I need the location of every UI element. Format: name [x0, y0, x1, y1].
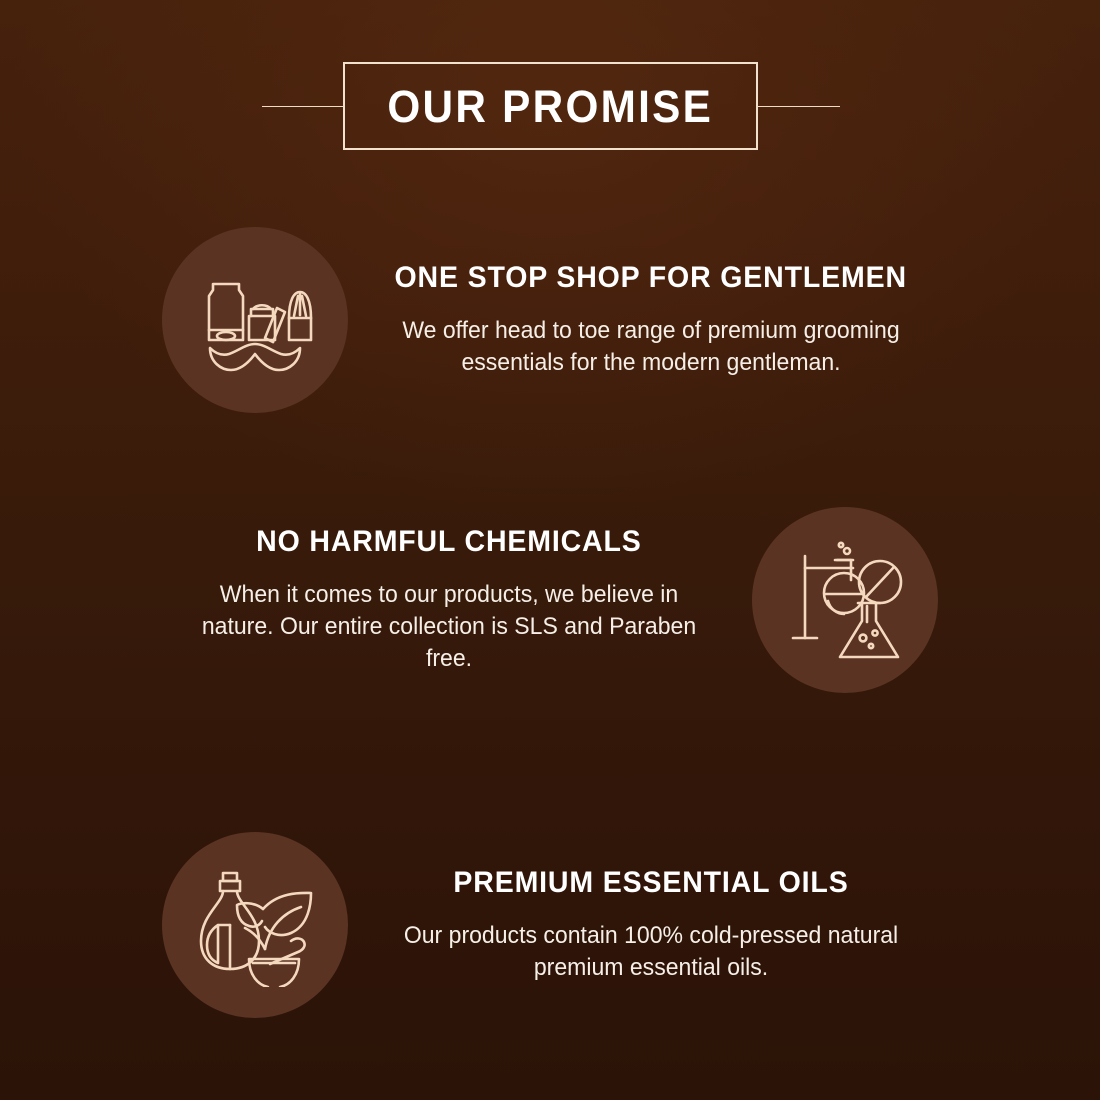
feature-description: When it comes to our products, we believ…: [199, 579, 698, 675]
feature-text-premium-essential-oils: PREMIUM ESSENTIAL OILS Our products cont…: [348, 866, 954, 983]
feature-text-one-stop-shop: ONE STOP SHOP FOR GENTLEMEN We offer hea…: [348, 261, 954, 378]
header-rule-right: [757, 106, 840, 107]
header-title-box: OUR PROMISE: [343, 62, 758, 150]
section-header: OUR PROMISE: [0, 62, 1100, 152]
feature-title: PREMIUM ESSENTIAL OILS: [453, 866, 848, 900]
feature-title: ONE STOP SHOP FOR GENTLEMEN: [395, 261, 907, 295]
feature-description: Our products contain 100% cold-pressed n…: [401, 920, 900, 984]
header-rule-left: [262, 106, 344, 107]
feature-description: We offer head to toe range of premium gr…: [401, 315, 900, 379]
feature-row-premium-essential-oils: PREMIUM ESSENTIAL OILS Our products cont…: [0, 830, 1100, 1020]
grooming-kit-mustache-icon: [162, 227, 348, 413]
our-promise-banner: OUR PROMISE: [0, 0, 1100, 1100]
lab-flasks-prohibited-icon: [752, 507, 938, 693]
oil-bottle-mortar-leaf-icon: [162, 832, 348, 1018]
feature-title: NO HARMFUL CHEMICALS: [256, 525, 641, 559]
feature-text-no-harmful-chemicals: NO HARMFUL CHEMICALS When it comes to ou…: [146, 525, 752, 674]
feature-row-no-harmful-chemicals: NO HARMFUL CHEMICALS When it comes to ou…: [0, 505, 1100, 695]
page-title: OUR PROMISE: [388, 84, 714, 129]
feature-row-one-stop-shop: ONE STOP SHOP FOR GENTLEMEN We offer hea…: [0, 225, 1100, 415]
